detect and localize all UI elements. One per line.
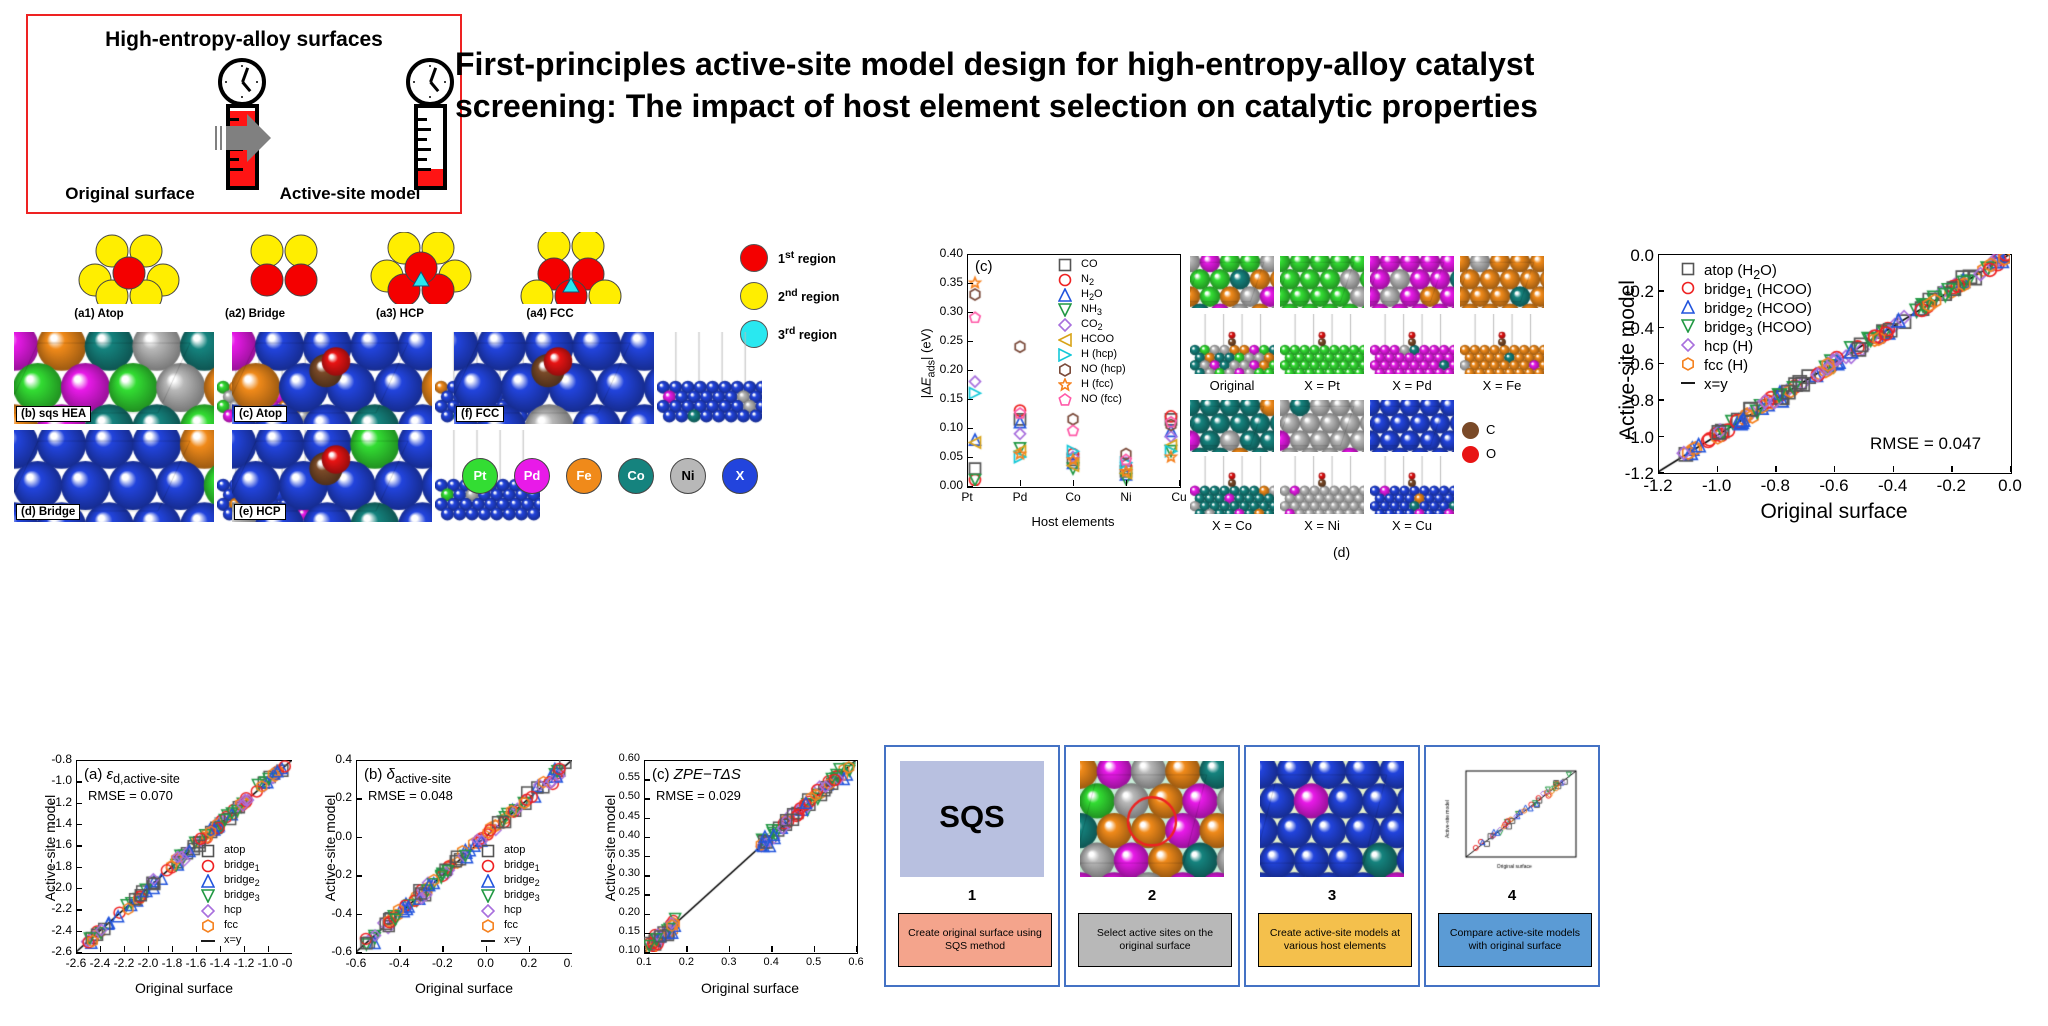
main-parity-plot: 0.0-0.2-0.4-0.6-0.8-1.0-1.2 -1.2-1.0-0.8… xyxy=(1570,238,2040,538)
legend-marker-icon xyxy=(201,844,216,859)
tile-top-fe xyxy=(1460,256,1544,308)
slab-caption-c: (c) Atop xyxy=(234,406,287,422)
region-1-swatch xyxy=(740,244,768,272)
legend-label: bridge1 xyxy=(224,859,260,873)
panel-c-ylabel: |ΔEads| (eV) xyxy=(919,288,938,438)
legend-label: hcp xyxy=(224,904,242,916)
legend-marker-icon xyxy=(481,859,496,874)
hea-overview-box: High-entropy-alloy surfaces Original sur… xyxy=(26,14,462,214)
workflow-3-number: 3 xyxy=(1246,887,1418,904)
legend-marker-icon xyxy=(1681,319,1696,334)
legend-item-atop: atop xyxy=(478,844,574,859)
tile-label-pt: X = Pt xyxy=(1280,378,1364,393)
workflow-3-caption: Create active-site models at various hos… xyxy=(1258,913,1412,967)
original-surface-label: Original surface xyxy=(50,184,210,204)
legend-marker-icon xyxy=(481,934,496,949)
workflow-step-2[interactable]: 2 Select active sites on the original su… xyxy=(1064,745,1240,987)
legend-marker-icon xyxy=(201,904,216,919)
bottom-a-rmse: RMSE = 0.070 xyxy=(88,788,173,803)
legend-marker-icon xyxy=(1058,348,1073,363)
legend-marker-icon xyxy=(1058,393,1073,408)
element-pill-co: Co xyxy=(618,458,654,494)
axis-tick-label: Co xyxy=(1045,490,1101,504)
bottom-a-ylabel: Active-site model xyxy=(42,758,58,938)
bottom-c-title: (c) ZPE−TΔS xyxy=(652,766,741,783)
region-3-label: 3rd region xyxy=(778,326,837,342)
axis-tick-label: Pt xyxy=(939,490,995,504)
legend-item-hcp: hcp xyxy=(198,904,294,919)
workflow-1-caption: Create original surface using SQS method xyxy=(898,913,1052,967)
bottom-b-xlabel: Original surface xyxy=(356,980,572,996)
legend-marker-icon xyxy=(1681,262,1696,277)
bottom-plot-a: -0.8-1.0-1.2-1.4-1.6-1.8-2.0-2.2-2.4-2.6… xyxy=(12,748,302,1018)
active-site-model-label: Active-site model xyxy=(260,184,440,204)
legend-item-atop-h2o-: atop (H2O) xyxy=(1678,262,1858,281)
legend-label: H (fcc) xyxy=(1081,378,1113,390)
bottom-a-title: (a) εd,active-site xyxy=(84,766,180,786)
workflow-2-image xyxy=(1080,761,1224,877)
legend-label: bridge2 (HCOO) xyxy=(1704,300,1812,320)
legend-item-fcc: fcc xyxy=(478,919,574,934)
oxygen-label: O xyxy=(1486,446,1496,461)
element-color-legend: Pt Pd Fe Co Ni X xyxy=(462,458,792,492)
tile-side-fe xyxy=(1460,314,1544,374)
legend-label: H (hcp) xyxy=(1081,348,1117,360)
axis-tick-label: 0.10 xyxy=(588,944,640,956)
carbon-swatch xyxy=(1462,422,1479,439)
legend-item-bridge3-hcoo-: bridge3 (HCOO) xyxy=(1678,319,1858,338)
axis-tick-label: 0.35 xyxy=(911,275,963,289)
main-parity-rmse: RMSE = 0.047 xyxy=(1870,434,1981,454)
tile-side-ni xyxy=(1280,456,1364,514)
legend-marker-icon xyxy=(1058,378,1073,393)
tile-top-pd xyxy=(1370,256,1454,308)
legend-label: hcp xyxy=(504,904,522,916)
legend-item-bridge3: bridge3 xyxy=(198,889,294,904)
element-pill-pd: Pd xyxy=(514,458,550,494)
original-surface-render xyxy=(42,66,207,181)
bottom-c-rmse: RMSE = 0.029 xyxy=(656,788,741,803)
bottom-plot-b: 0.40.20.0-0.2-0.4-0.6 -0.6-0.4-0.20.00.2… xyxy=(292,748,582,1018)
legend-marker-icon xyxy=(481,904,496,919)
axis-tick-label: -0.8 xyxy=(1747,476,1803,496)
legend-marker-icon xyxy=(1058,333,1073,348)
legend-label: fcc (H) xyxy=(1704,357,1748,374)
region-2-label: 2nd region xyxy=(778,288,839,304)
legend-marker-icon xyxy=(1058,258,1073,273)
bottom-a-xlabel: Original surface xyxy=(76,980,292,996)
legend-label: x=y xyxy=(1704,376,1728,393)
legend-marker-icon xyxy=(1058,363,1073,378)
legend-marker-icon xyxy=(201,919,216,934)
legend-item-hcp-h-: hcp (H) xyxy=(1678,338,1858,357)
oxygen-swatch xyxy=(1462,446,1479,463)
workflow-step-1[interactable]: SQS 1 Create original surface using SQS … xyxy=(884,745,1060,987)
workflow-1-image: SQS xyxy=(900,761,1044,877)
slab-side-fcc xyxy=(657,332,762,424)
legend-marker-icon xyxy=(1058,303,1073,318)
workflow-step-4[interactable]: 4 Compare active-site models with origin… xyxy=(1424,745,1600,987)
legend-marker-icon xyxy=(201,889,216,904)
thermometer-icon-2 xyxy=(414,104,447,190)
panel-d-label: (d) xyxy=(1333,544,1350,560)
panel-c-xlabel: Host elements xyxy=(967,514,1179,529)
main-parity-ylabel: Active-site model xyxy=(1616,240,1640,480)
legend-item-bridge1-hcoo-: bridge1 (HCOO) xyxy=(1678,281,1858,300)
slab-image-grid: (b) sqs HEA (c) Atop (f) FCC (d) Bridge … xyxy=(14,332,669,528)
bottom-a-legend: atopbridge1bridge2bridge3hcpfccx=y xyxy=(198,844,294,949)
legend-item-bridge1: bridge1 xyxy=(478,859,574,874)
slab-caption-e: (e) HCP xyxy=(234,504,286,520)
tile-top-pt xyxy=(1280,256,1364,308)
site-caption-a1: (a1) Atop xyxy=(44,308,154,320)
tile-top-original xyxy=(1190,256,1274,308)
axis-tick-label: Pd xyxy=(992,490,1048,504)
legend-label: bridge2 xyxy=(224,874,260,888)
workflow-2-number: 2 xyxy=(1066,887,1238,904)
region-1-label: 1st region xyxy=(778,250,836,266)
legend-marker-icon xyxy=(1681,376,1696,391)
legend-item-bridge3: bridge3 xyxy=(478,889,574,904)
workflow-3-image xyxy=(1260,761,1404,877)
tile-top-co xyxy=(1190,400,1274,452)
legend-item-bridge2-hcoo-: bridge2 (HCOO) xyxy=(1678,300,1858,319)
site-sketch-svg xyxy=(60,232,690,304)
region-2-swatch xyxy=(740,282,768,310)
legend-label: HCOO xyxy=(1081,333,1114,345)
legend-item-bridge1: bridge1 xyxy=(198,859,294,874)
legend-marker-icon xyxy=(1058,318,1073,333)
tile-label-co: X = Co xyxy=(1190,518,1274,533)
legend-item-bridge2: bridge2 xyxy=(478,874,574,889)
legend-label: CO xyxy=(1081,258,1098,270)
legend-label: fcc xyxy=(504,919,518,931)
legend-label: NH3 xyxy=(1081,303,1102,317)
workflow-4-number: 4 xyxy=(1426,887,1598,904)
bottom-b-rmse: RMSE = 0.048 xyxy=(368,788,453,803)
legend-label: NO (hcp) xyxy=(1081,363,1126,375)
legend-item-h-hcp-: H (hcp) xyxy=(1055,348,1183,363)
legend-item-co2: CO2 xyxy=(1055,318,1183,333)
tile-side-co xyxy=(1190,456,1274,514)
legend-marker-icon xyxy=(481,874,496,889)
tile-top-ni xyxy=(1280,400,1364,452)
element-pill-ni: Ni xyxy=(670,458,706,494)
legend-item-fcc: fcc xyxy=(198,919,294,934)
legend-item-nh3: NH3 xyxy=(1055,303,1183,318)
legend-marker-icon xyxy=(201,934,216,949)
legend-label: hcp (H) xyxy=(1704,338,1753,355)
legend-item-hcoo: HCOO xyxy=(1055,333,1183,348)
element-pill-pt: Pt xyxy=(462,458,498,494)
legend-item-x-y: x=y xyxy=(198,934,294,949)
panel-c-title: (c) xyxy=(975,258,993,275)
legend-label: atop (H2O) xyxy=(1704,262,1777,282)
tile-side-pt xyxy=(1280,314,1364,374)
legend-item-no-fcc-: NO (fcc) xyxy=(1055,393,1183,408)
legend-label: bridge3 xyxy=(224,889,260,903)
arrow-right-icon xyxy=(211,112,273,164)
bottom-b-title: (b) δactive-site xyxy=(364,766,451,786)
workflow-4-image xyxy=(1440,761,1584,877)
legend-marker-icon xyxy=(1681,357,1696,372)
panel-c-legend: CON2H2ONH3CO2HCOOH (hcp)NO (hcp)H (fcc)N… xyxy=(1055,258,1183,408)
legend-marker-icon xyxy=(1681,338,1696,353)
panel-d-tiles: Original X = Pt X = Pd X = Fe X = Co X =… xyxy=(1188,244,1553,534)
bottom-b-ylabel: Active-site model xyxy=(322,758,338,938)
axis-tick-label: -0.2 xyxy=(1923,476,1979,496)
bottom-plot-c: 0.600.550.500.450.400.350.300.250.200.15… xyxy=(572,748,872,1018)
workflow-1-number: 1 xyxy=(886,887,1058,904)
sqs-text: SQS xyxy=(900,799,1044,835)
legend-marker-icon xyxy=(201,874,216,889)
site-caption-a3: (a3) HCP xyxy=(345,308,455,320)
tile-label-pd: X = Pd xyxy=(1370,378,1454,393)
axis-tick-label: -0.4 xyxy=(1865,476,1921,496)
tile-label-fe: X = Fe xyxy=(1460,378,1544,393)
axis-tick-label: 0.40 xyxy=(911,246,963,260)
element-pill-fe: Fe xyxy=(566,458,602,494)
legend-label: bridge1 (HCOO) xyxy=(1704,281,1812,301)
bottom-c-ylabel: Active-site model xyxy=(602,758,618,938)
legend-label: bridge2 xyxy=(504,874,540,888)
legend-item-h2o: H2O xyxy=(1055,288,1183,303)
legend-label: N2 xyxy=(1081,273,1094,287)
clock-icon xyxy=(218,58,266,106)
legend-label: bridge3 (HCOO) xyxy=(1704,319,1812,339)
legend-item-h-fcc-: H (fcc) xyxy=(1055,378,1183,393)
legend-label: atop xyxy=(224,844,245,856)
carbon-label: C xyxy=(1486,422,1495,437)
axis-tick-label: -0.6 xyxy=(1806,476,1862,496)
tile-side-cu xyxy=(1370,456,1454,514)
legend-label: atop xyxy=(504,844,525,856)
legend-label: x=y xyxy=(504,934,521,946)
legend-item-hcp: hcp xyxy=(478,904,574,919)
bottom-b-legend: atopbridge1bridge2bridge3hcpfccx=y xyxy=(478,844,574,949)
legend-marker-icon xyxy=(481,844,496,859)
legend-item-x-y: x=y xyxy=(1678,376,1858,395)
axis-tick-label: -1.0 xyxy=(1689,476,1745,496)
tile-label-ni: X = Ni xyxy=(1280,518,1364,533)
legend-item-atop: atop xyxy=(198,844,294,859)
legend-label: NO (fcc) xyxy=(1081,393,1122,405)
slab-caption-b: (b) sqs HEA xyxy=(16,406,91,422)
tile-label-original: Original xyxy=(1190,378,1274,393)
site-caption-a2: (a2) Bridge xyxy=(200,308,310,320)
main-parity-legend: atop (H2O)bridge1 (HCOO)bridge2 (HCOO)br… xyxy=(1678,262,1858,395)
panel-c-scatter-plot: 0.400.350.300.250.200.150.100.050.00 PtP… xyxy=(905,242,1195,532)
legend-label: fcc xyxy=(224,919,238,931)
tile-top-cu xyxy=(1370,400,1454,452)
legend-item-fcc-h-: fcc (H) xyxy=(1678,357,1858,376)
legend-marker-icon xyxy=(201,859,216,874)
page-title: First-principles active-site model desig… xyxy=(455,44,1575,127)
legend-item-n2: N2 xyxy=(1055,273,1183,288)
legend-item-x-y: x=y xyxy=(478,934,574,949)
tile-side-pd xyxy=(1370,314,1454,374)
legend-label: bridge1 xyxy=(504,859,540,873)
site-caption-a4: (a4) FCC xyxy=(495,308,605,320)
axis-tick-label: 0.6 xyxy=(828,956,884,968)
region-legend: 1st region 2nd region 3rd region xyxy=(740,240,900,360)
workflow-2-caption: Select active sites on the original surf… xyxy=(1078,913,1232,967)
legend-marker-icon xyxy=(481,889,496,904)
element-pill-x: X xyxy=(722,458,758,494)
legend-marker-icon xyxy=(481,919,496,934)
clock-icon-2 xyxy=(406,58,454,106)
legend-marker-icon xyxy=(1681,300,1696,315)
legend-item-no-hcp-: NO (hcp) xyxy=(1055,363,1183,378)
axis-tick-label: 0.05 xyxy=(911,449,963,463)
legend-label: H2O xyxy=(1081,288,1103,302)
legend-label: CO2 xyxy=(1081,318,1103,332)
legend-label: x=y xyxy=(224,934,241,946)
tile-label-cu: X = Cu xyxy=(1370,518,1454,533)
hea-box-title: High-entropy-alloy surfaces xyxy=(28,28,460,52)
workflow-step-3[interactable]: 3 Create active-site models at various h… xyxy=(1244,745,1420,987)
bottom-c-xlabel: Original surface xyxy=(644,980,856,996)
legend-marker-icon xyxy=(1058,273,1073,288)
workflow-4-caption: Compare active-site models with original… xyxy=(1438,913,1592,967)
axis-tick-label: Ni xyxy=(1098,490,1154,504)
axis-tick-label: 0.0 xyxy=(1982,476,2038,496)
legend-item-bridge2: bridge2 xyxy=(198,874,294,889)
legend-marker-icon xyxy=(1681,281,1696,296)
slab-caption-d: (d) Bridge xyxy=(16,504,80,520)
tile-side-original xyxy=(1190,314,1274,374)
main-parity-xlabel: Original surface xyxy=(1658,500,2010,524)
legend-label: bridge3 xyxy=(504,889,540,903)
legend-marker-icon xyxy=(1058,288,1073,303)
legend-item-co: CO xyxy=(1055,258,1183,273)
slab-caption-f: (f) FCC xyxy=(456,406,504,422)
